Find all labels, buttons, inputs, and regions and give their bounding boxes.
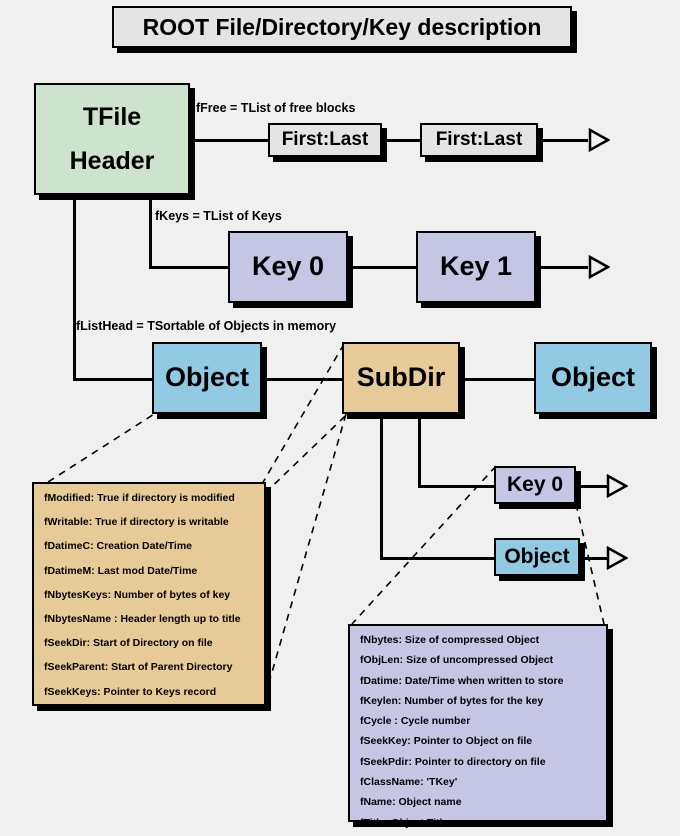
connector-object-to-subdir (262, 378, 344, 381)
connector-flisthead-horizontal (73, 378, 154, 381)
key-field: fDatime: Date/Time when written to store (360, 675, 598, 687)
key-field: fClassName: 'TKey' (360, 776, 598, 788)
directory-field: fModified: True if directory is modified (44, 492, 256, 504)
directory-field: fSeekParent: Start of Parent Directory (44, 661, 256, 673)
key-field: fKeylen: Number of bytes for the key (360, 695, 598, 707)
connector-ffree-horizontal (190, 139, 270, 142)
label-ffree: fFree = TList of free blocks (196, 101, 355, 115)
node-tfile-header-line1: TFile (83, 103, 141, 132)
node-subdir-object[interactable]: Object (494, 538, 580, 576)
key-field: fTitle: Object Title (360, 817, 598, 829)
node-object-left[interactable]: Object (152, 342, 262, 414)
node-subdir[interactable]: SubDir (342, 342, 460, 414)
connector-fkeys-horizontal (149, 266, 230, 269)
label-fkeys: fKeys = TList of Keys (155, 209, 282, 223)
key-field: fCycle : Cycle number (360, 715, 598, 727)
node-subdir-key-0[interactable]: Key 0 (494, 466, 576, 504)
connector-subdir-to-object (460, 378, 536, 381)
diagram-canvas: ROOT File/Directory/Key description (0, 0, 680, 836)
callout-key-fields: fNbytes: Size of compressed Object fObjL… (348, 624, 608, 822)
callout-directory-fields: fModified: True if directory is modified… (32, 482, 266, 706)
node-tfile-header[interactable]: TFile Header (34, 83, 190, 195)
node-key-0[interactable]: Key 0 (228, 231, 348, 303)
connector-flisthead-vertical (73, 195, 76, 381)
label-flisthead: fListHead = TSortable of Objects in memo… (76, 319, 336, 333)
node-tfile-header-line2: Header (70, 147, 155, 176)
diagram-title: ROOT File/Directory/Key description (112, 6, 572, 48)
connector-fkeys-vertical (149, 195, 152, 269)
connector-subdir-child-key-horizontal (418, 485, 496, 488)
key-field: fObjLen: Size of uncompressed Object (360, 654, 598, 666)
connector-subdir-child-key-vertical (418, 414, 421, 488)
directory-field: fDatimeC: Creation Date/Time (44, 540, 256, 552)
node-free-block-1[interactable]: First:Last (268, 123, 382, 157)
connector-ffree-vertical (190, 95, 193, 142)
node-object-right[interactable]: Object (534, 342, 652, 414)
node-key-1[interactable]: Key 1 (416, 231, 536, 303)
key-field: fName: Object name (360, 796, 598, 808)
directory-field: fDatimeM: Last mod Date/Time (44, 565, 256, 577)
directory-field: fNbytesName : Header length up to title (44, 613, 256, 625)
connector-key0-to-key1 (348, 266, 418, 269)
directory-field: fSeekDir: Start of Directory on file (44, 637, 256, 649)
key-field: fSeekKey: Pointer to Object on file (360, 735, 598, 747)
key-field: fNbytes: Size of compressed Object (360, 634, 598, 646)
key-field: fSeekPdir: Pointer to directory on file (360, 756, 598, 768)
connector-subdir-child-object-vertical (380, 414, 383, 560)
connector-objectsmall-to-arrow (580, 557, 608, 560)
diagram-title-text: ROOT File/Directory/Key description (143, 14, 542, 40)
node-free-block-2[interactable]: First:Last (420, 123, 538, 157)
connector-freeblock2-to-arrow (538, 139, 588, 142)
directory-field: fSeekKeys: Pointer to Keys record (44, 686, 256, 698)
directory-field: fNbytesKeys: Number of bytes of key (44, 589, 256, 601)
connector-freeblock1-to-freeblock2 (382, 139, 422, 142)
connector-key1-to-arrow (536, 266, 588, 269)
directory-field: fWritable: True if directory is writable (44, 516, 256, 528)
connector-subdir-child-object-horizontal (380, 557, 496, 560)
connector-keysmall-to-arrow (576, 485, 608, 488)
